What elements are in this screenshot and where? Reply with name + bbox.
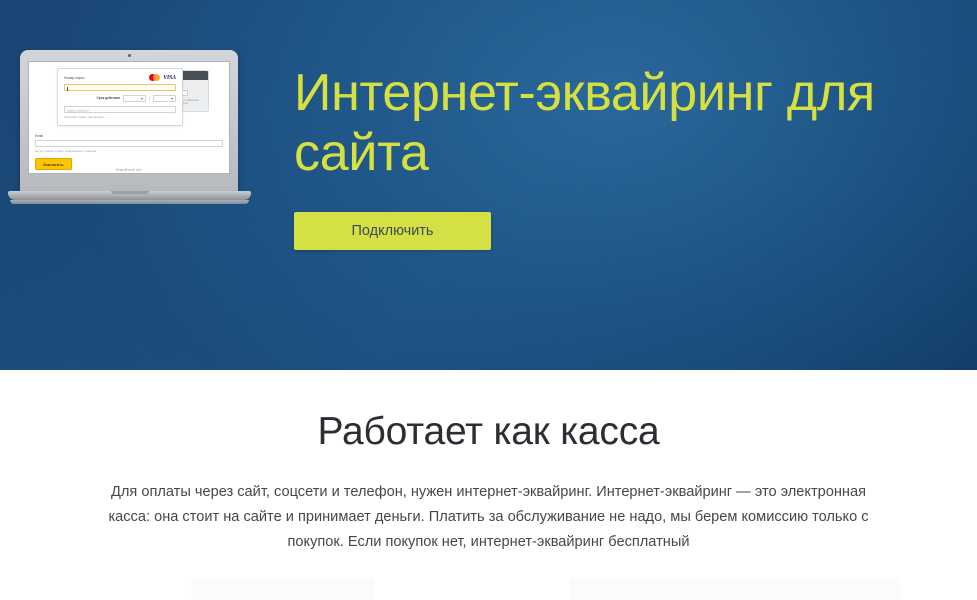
expiry-month-select[interactable] <box>123 95 146 102</box>
laptop-base <box>8 191 251 200</box>
expiry-label: Срок действия <box>97 97 121 101</box>
info-section: Работает как касса Для оплаты через сайт… <box>0 370 977 600</box>
card-number-header: Номер карты VISA <box>64 74 176 81</box>
page-title: Интернет-эквайринг для сайта <box>294 64 954 184</box>
laptop-brand-label: MacBook Air <box>29 167 229 172</box>
hero-copy: Интернет-эквайринг для сайта Подключить <box>294 64 954 250</box>
visa-icon: VISA <box>163 75 176 81</box>
laptop-lid: CVC/CVV 123 Три цифры с обратной стороны… <box>20 50 238 193</box>
laptop-foot <box>10 200 249 204</box>
card-details-box: Номер карты VISA Срок действия <box>57 68 183 126</box>
email-hint: На этот адрес придет информация о платеж… <box>35 149 223 153</box>
section-title: Работает как касса <box>0 410 977 454</box>
payment-form-mockup: CVC/CVV 123 Три цифры с обратной стороны… <box>35 68 223 170</box>
landing-page: CVC/CVV 123 Три цифры с обратной стороны… <box>0 0 977 600</box>
card-brand-logos: VISA <box>149 74 176 81</box>
feature-card-peek-2[interactable] <box>570 578 900 600</box>
text-caret <box>67 87 68 91</box>
email-label: Email <box>35 134 223 138</box>
laptop-notch <box>111 191 149 194</box>
email-input[interactable] <box>35 140 223 147</box>
card-number-input[interactable] <box>64 84 176 91</box>
expiry-year-select[interactable] <box>153 95 176 102</box>
expiry-row: Срок действия / <box>64 95 176 102</box>
mastercard-icon <box>149 74 160 81</box>
cardholder-input[interactable]: IVAN IVANOV <box>64 106 176 113</box>
connect-button[interactable]: Подключить <box>294 212 491 250</box>
cardholder-hint: Латинские буквы, как на карте <box>64 115 176 119</box>
laptop-camera-icon <box>128 54 131 57</box>
laptop-illustration: CVC/CVV 123 Три цифры с обратной стороны… <box>8 50 251 208</box>
laptop-screen: CVC/CVV 123 Три цифры с обратной стороны… <box>28 61 230 174</box>
card-number-label: Номер карты <box>64 76 85 80</box>
feature-card-peek-1[interactable] <box>192 578 374 600</box>
section-paragraph: Для оплаты через сайт, соцсети и телефон… <box>108 480 870 555</box>
expiry-separator: / <box>149 97 150 101</box>
hero-section: CVC/CVV 123 Три цифры с обратной стороны… <box>0 0 977 370</box>
